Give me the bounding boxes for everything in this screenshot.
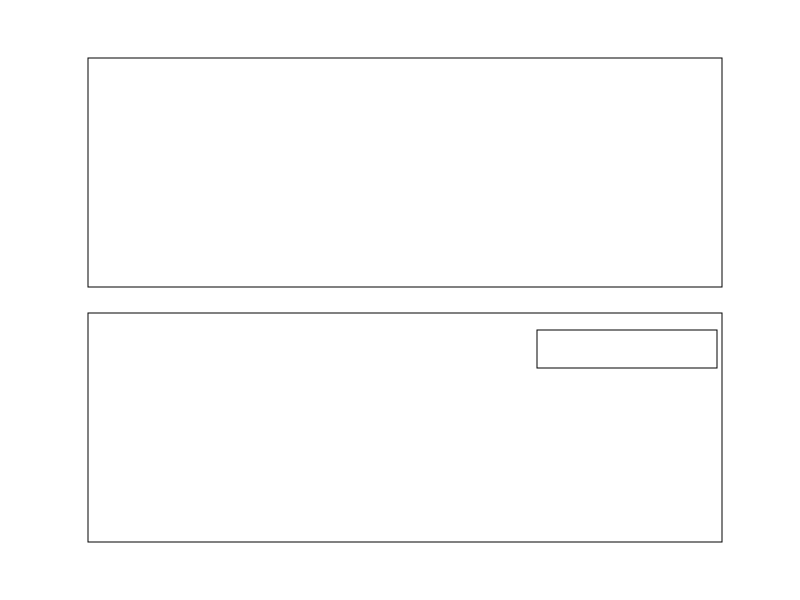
bottom-panel (88, 313, 722, 542)
top-panel-plot-frame (88, 58, 722, 287)
legend-box (537, 330, 717, 368)
matplotlib-figure (0, 0, 800, 600)
figure-canvas (0, 0, 800, 600)
top-panel (88, 58, 722, 287)
legend[interactable] (537, 330, 717, 368)
